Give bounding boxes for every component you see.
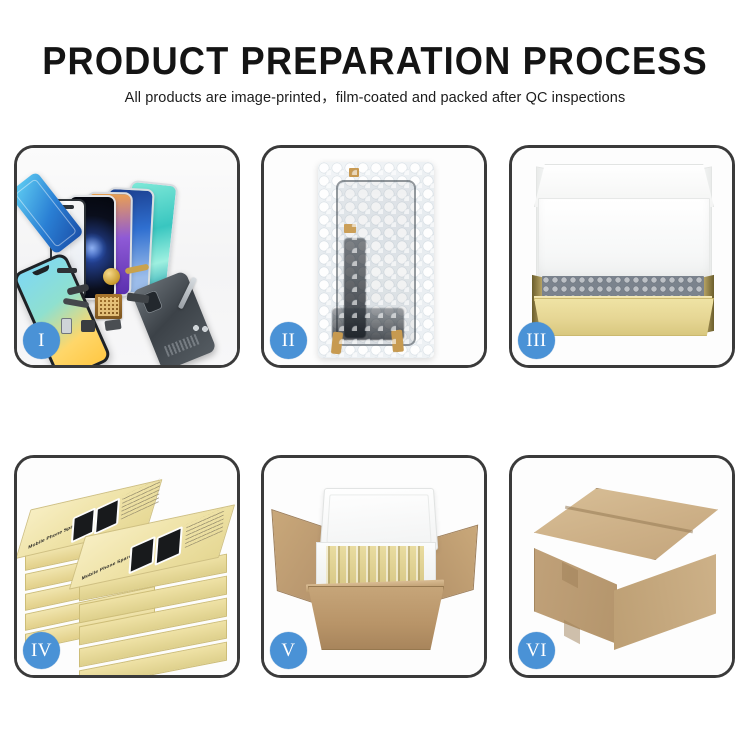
yellow-tape-tab-3 (331, 332, 343, 355)
part-dark-strip (344, 238, 366, 338)
foam-lid-open (320, 488, 439, 550)
process-step-panel-1: I (14, 145, 240, 368)
box-window-front-1 (128, 536, 155, 575)
component-coin-icon (103, 268, 120, 285)
process-step-panel-6: VI (509, 455, 735, 678)
page-title: PRODUCT PREPARATION PROCESS (26, 42, 724, 81)
yellow-tape-tab-4 (391, 330, 404, 353)
yellow-tape-tab-2 (344, 224, 356, 233)
yellow-tape-tab-1 (349, 168, 359, 177)
camera-module-icon (61, 318, 72, 334)
box-window-front-2 (155, 526, 183, 566)
step-badge-5: V (270, 632, 307, 669)
part-dark-base (332, 308, 404, 340)
flex-cable-5-icon (57, 268, 77, 273)
process-step-panel-2: II (261, 145, 487, 368)
component-chip-grid-icon (95, 294, 122, 319)
step-badge-4: IV (23, 632, 60, 669)
carton-front-panel (308, 586, 444, 650)
process-steps-grid: I II (14, 145, 738, 678)
part-outline (336, 180, 416, 346)
process-step-panel-3: III (509, 145, 735, 368)
box-spec-lines-back (121, 479, 161, 520)
box-spec-lines-front (185, 508, 225, 548)
box-front-panel (534, 298, 714, 336)
step-badge-2: II (270, 322, 307, 359)
step-badge-1: I (23, 322, 60, 359)
process-step-panel-4: Mobile Phone Spare Parts Mobile Phone Sp… (14, 455, 240, 678)
step-badge-3: III (518, 322, 555, 359)
process-step-panel-5: V (261, 455, 487, 678)
small-component-1-icon (81, 320, 95, 332)
bubble-wrap-pouch (318, 162, 434, 358)
screws-icon (193, 324, 211, 333)
page-subtitle: All products are image-printed，film-coat… (0, 90, 750, 107)
product-preparation-process-page: PRODUCT PREPARATION PROCESS All products… (0, 0, 750, 750)
step-badge-6: VI (518, 632, 555, 669)
foam-insert (538, 198, 710, 282)
